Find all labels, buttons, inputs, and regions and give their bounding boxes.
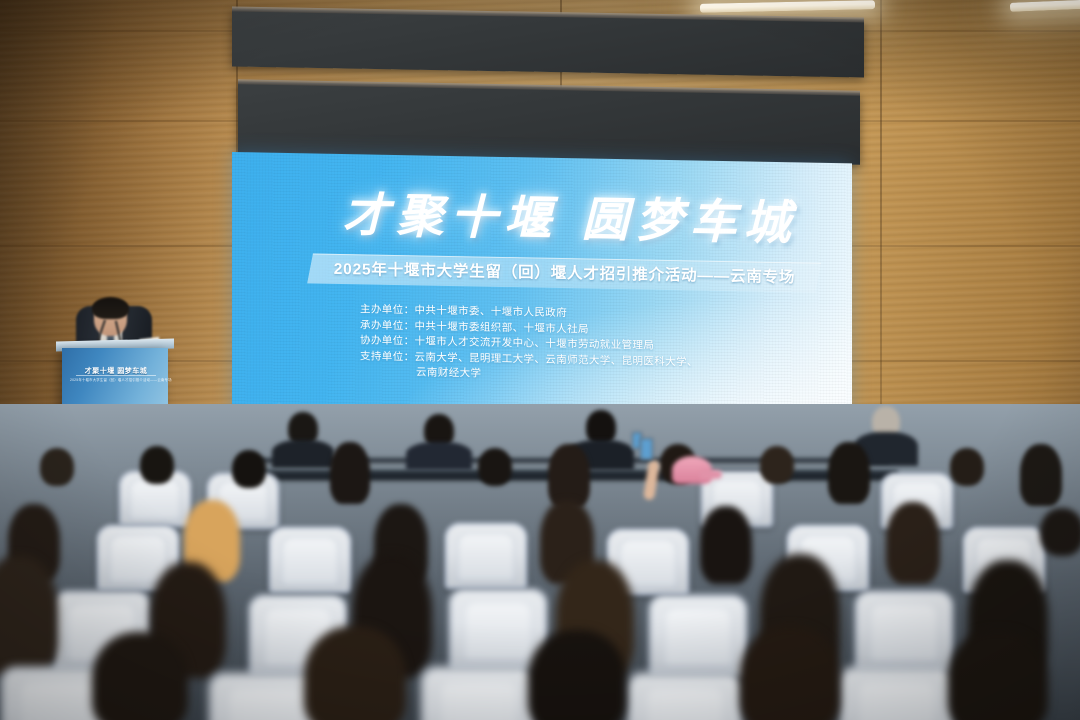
attendee-head [304,626,406,720]
auditorium-seat [268,526,352,594]
attendee-head [1020,444,1062,506]
smartphone [640,438,653,460]
podium-divider [76,375,156,376]
attendee-head [140,446,174,484]
speaker-hair [92,297,129,319]
organizer-value: 中共十堰市委组织部、十堰市人社局 [415,320,589,335]
podium-subtitle: 2025年十堰市大学生留（回）堰人才招引推介活动——云南专场 [70,377,162,382]
attendee-head [828,442,870,504]
screen-organizer-list: 主办单位：中共十堰市委、十堰市人民政府 承办单位：中共十堰市委组织部、十堰市人社… [360,302,698,386]
attendee-shoulders [272,440,334,468]
attendee-head [330,442,370,504]
auditorium-seat [420,666,538,720]
organizer-value: 云南财经大学 [416,366,481,379]
attendee-head [548,444,590,508]
auditorium-seat [854,590,954,674]
organizer-label: 承办单位： [360,319,415,332]
organizer-label: 主办单位： [360,303,415,316]
conference-photo: 才聚十堰 圆梦车城 2025年十堰市大学生留（回）堰人才招引推介活动——云南专场… [0,0,1080,720]
cap-brim [700,470,722,479]
auditorium-seat [444,522,528,590]
attendee-head [92,632,188,720]
organizer-value: 十堰市人才交流开发中心、十堰市劳动就业管理局 [415,335,655,351]
attendee-head [1040,508,1080,556]
attendee-head [886,502,940,584]
attendee-head [40,448,74,486]
attendee-head [478,448,512,486]
attendee-shoulders [406,442,472,470]
organizer-label: 协办单位： [360,334,415,347]
auditorium-seat [838,666,956,720]
attendee-head [528,630,626,720]
attendee-head [232,450,266,488]
auditorium-seat [648,594,748,678]
attendee-head [948,630,1048,720]
attendee-head [950,448,984,486]
organizer-label: 支持单位： [360,350,415,363]
attendee-head [760,446,794,484]
audience-area [0,404,1080,720]
attendee-head [700,506,752,584]
screen-main-title: 才聚十堰 圆梦车城 [340,176,800,253]
organizer-value: 中共十堰市委、十堰市人民政府 [415,304,568,319]
attendee-head [740,626,840,720]
auditorium-seat [626,672,744,720]
